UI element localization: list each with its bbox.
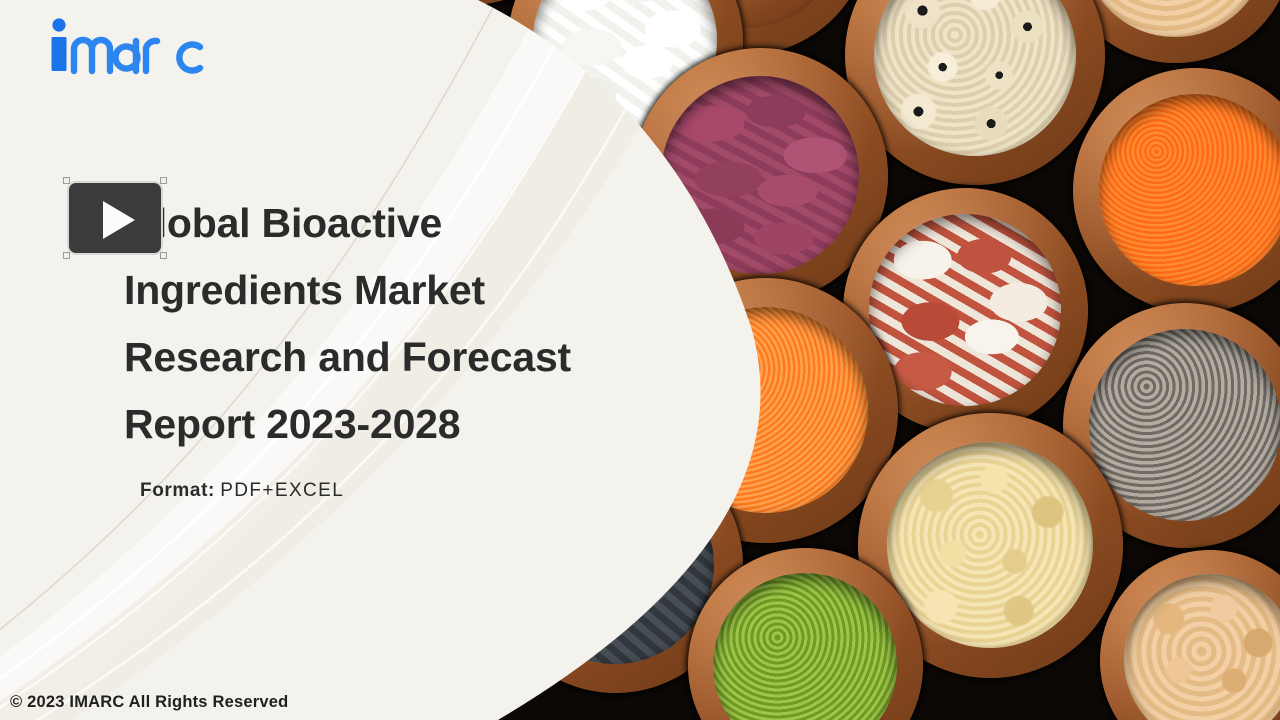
bowl-contents bbox=[887, 442, 1094, 649]
bowl-contents bbox=[713, 573, 896, 720]
selection-handle-bottom-left[interactable] bbox=[63, 252, 70, 259]
bowl-contents bbox=[516, 466, 715, 665]
bowl-contents bbox=[661, 76, 860, 275]
logo-letter-r bbox=[146, 41, 157, 71]
bowl-contents bbox=[1083, 0, 1266, 37]
format-value: PDF+EXCEL bbox=[220, 480, 344, 501]
bowl bbox=[1073, 68, 1280, 313]
selection-handle-bottom-right[interactable] bbox=[160, 252, 167, 259]
logo-letter-a bbox=[115, 41, 137, 71]
play-button-frame bbox=[67, 181, 163, 255]
copyright-footer: © 2023 IMARC All Rights Reserved bbox=[10, 693, 288, 712]
report-cover-slide: Global Bioactive Ingredients Market Rese… bbox=[0, 0, 1280, 720]
title-block: Global Bioactive Ingredients Market Rese… bbox=[124, 190, 684, 458]
selection-handle-top-left[interactable] bbox=[63, 177, 70, 184]
play-button[interactable] bbox=[67, 181, 163, 255]
logo-letter-m bbox=[74, 40, 110, 71]
format-line: Format: PDF+EXCEL bbox=[140, 480, 344, 502]
logo-letter-c bbox=[179, 45, 200, 71]
imarc-logo[interactable] bbox=[42, 14, 212, 78]
bowl-contents bbox=[1124, 574, 1280, 720]
bowl-contents bbox=[874, 0, 1077, 156]
bowl-contents bbox=[1099, 94, 1280, 285]
bowl-contents bbox=[869, 214, 1060, 405]
selection-handle-top-right[interactable] bbox=[160, 177, 167, 184]
page-title: Global Bioactive Ingredients Market Rese… bbox=[124, 190, 684, 458]
format-label: Format: bbox=[140, 480, 215, 501]
logo-dot-icon bbox=[52, 18, 65, 31]
play-icon bbox=[103, 201, 135, 239]
logo-letter-i bbox=[52, 37, 67, 71]
bowl bbox=[1100, 550, 1280, 720]
bowl-contents bbox=[1089, 329, 1280, 520]
